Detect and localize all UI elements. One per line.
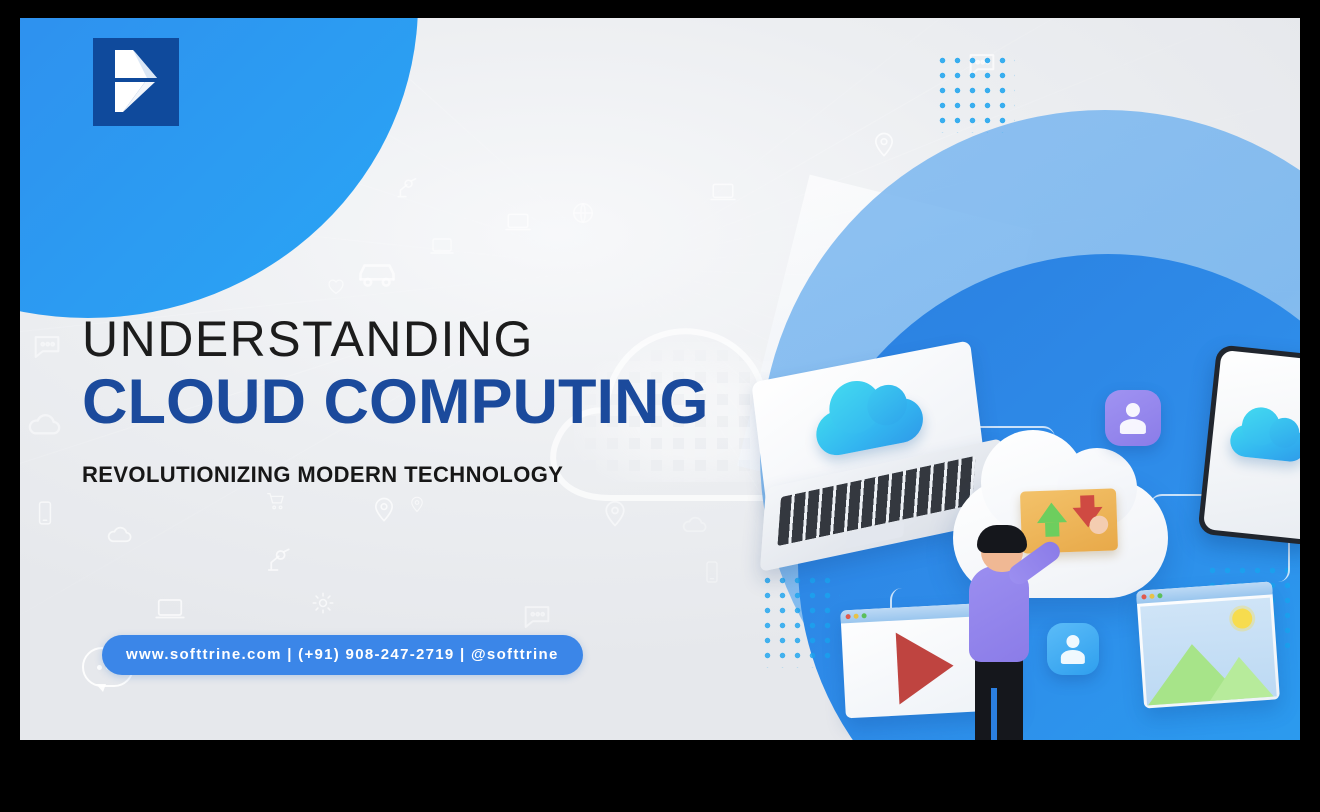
cloud-computing-banner: UNDERSTANDING CLOUD COMPUTING REVOLUTION…	[20, 18, 1300, 740]
image-gallery-window[interactable]	[1136, 581, 1280, 708]
upload-arrow-icon	[1036, 502, 1067, 523]
person-legs	[975, 654, 1023, 740]
play-icon[interactable]	[896, 629, 956, 704]
map-pin-icon	[600, 498, 630, 528]
map-pin-icon	[870, 130, 898, 158]
person-hair	[977, 525, 1027, 553]
contact-bar: www.softtrine.com | (+91) 908-247-2719 |…	[82, 635, 583, 675]
page-title: CLOUD COMPUTING	[82, 369, 782, 436]
heart-icon	[325, 275, 347, 297]
softtrine-arrow-logo-icon	[93, 38, 179, 126]
contact-pill[interactable]: www.softtrine.com | (+91) 908-247-2719 |…	[102, 635, 583, 675]
laptop-icon	[505, 210, 531, 236]
window-dot-green	[861, 613, 866, 618]
smartphone-device	[1197, 344, 1300, 545]
smartphone-icon	[32, 500, 58, 526]
robot-arm-icon	[395, 175, 421, 201]
map-pin-icon	[370, 495, 398, 523]
smartphone-icon	[700, 560, 724, 584]
subtitle-text: REVOLUTIONIZING MODERN TECHNOLOGY	[82, 462, 782, 488]
laptop-cloud-icon	[814, 395, 926, 459]
screenshot-frame: UNDERSTANDING CLOUD COMPUTING REVOLUTION…	[0, 0, 1320, 812]
softtrine-logo[interactable]	[93, 38, 179, 126]
window-dot-red	[1141, 594, 1146, 599]
cloud-icon	[25, 405, 65, 445]
phone-cloud-icon	[1229, 423, 1300, 463]
window-dot-red	[845, 614, 850, 619]
cloud-icon	[680, 510, 710, 540]
shopping-cart-icon	[265, 490, 287, 512]
window-dot-green	[1157, 593, 1162, 598]
user-icon	[1116, 401, 1150, 435]
gear-icon	[310, 590, 336, 616]
headline-block: UNDERSTANDING CLOUD COMPUTING REVOLUTION…	[82, 314, 782, 488]
laptop-icon	[155, 595, 185, 625]
robot-arm-icon	[265, 545, 295, 575]
window-dot-yellow	[1149, 594, 1154, 599]
chat-bubble-icon	[30, 330, 64, 364]
cloud-icon	[105, 520, 135, 550]
globe-icon	[570, 200, 596, 226]
image-window-body	[1137, 594, 1280, 708]
cloud-computing-illustration	[735, 338, 1300, 740]
user-icon	[1057, 633, 1088, 664]
person-figure	[965, 528, 1061, 740]
laptop-icon	[710, 180, 736, 206]
smartphone-screen	[1203, 350, 1300, 540]
kicker-text: UNDERSTANDING	[82, 314, 782, 365]
map-pin-icon	[408, 495, 426, 513]
dot-grid-top	[935, 53, 1015, 133]
window-dot-yellow	[853, 614, 858, 619]
user-avatar-purple[interactable]	[1105, 390, 1161, 446]
car-icon	[355, 250, 399, 294]
chat-bubble-icon	[520, 600, 554, 634]
mountain-shape-small	[1207, 655, 1274, 701]
laptop-icon	[430, 235, 454, 259]
